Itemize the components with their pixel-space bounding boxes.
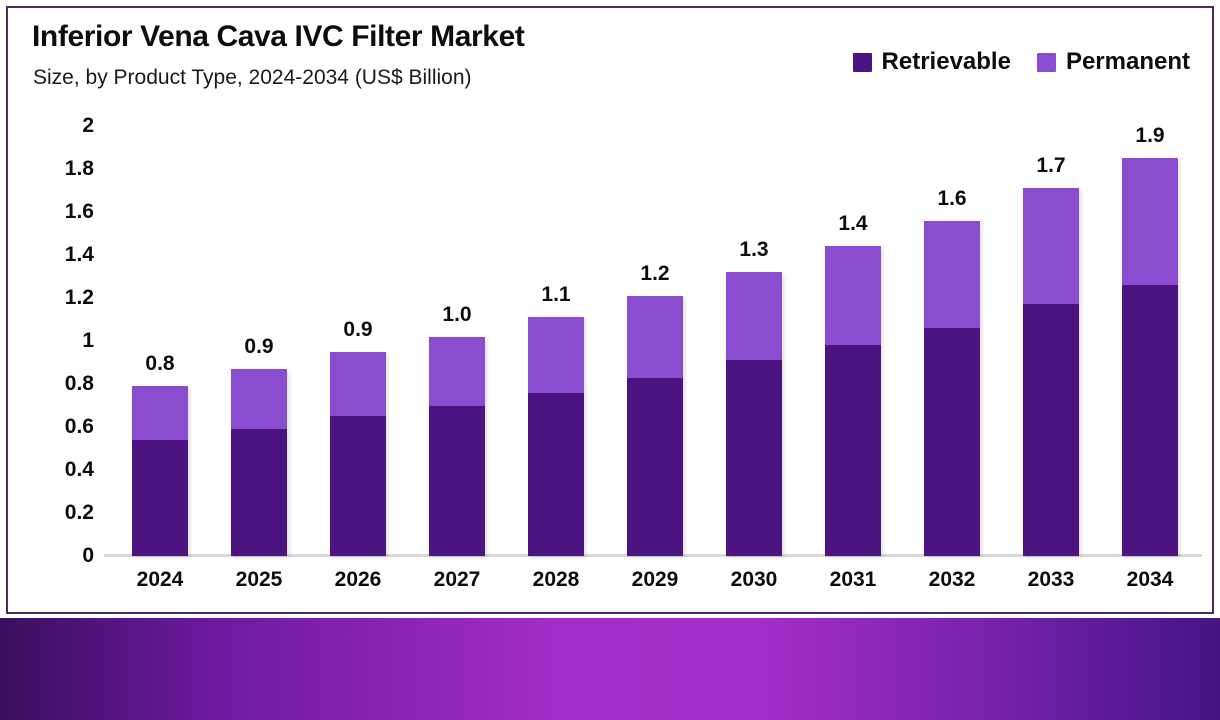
bar-stack[interactable] [1023, 188, 1079, 556]
bar-segment-permanent[interactable] [231, 369, 287, 429]
bar-segment-retrievable[interactable] [627, 378, 683, 556]
market-infographic: Inferior Vena Cava IVC Filter Market Siz… [0, 0, 1220, 720]
bar-segment-retrievable[interactable] [528, 393, 584, 556]
bar-value-label: 0.9 [217, 335, 301, 359]
bar-segment-retrievable[interactable] [1023, 304, 1079, 556]
bar-stack[interactable] [330, 352, 386, 556]
bar-group[interactable]: 1.6 [924, 221, 980, 556]
bar-segment-permanent[interactable] [627, 296, 683, 378]
bar-value-label: 1.3 [712, 238, 796, 262]
y-axis-tick-label: 2 [28, 114, 94, 138]
bar-series-container: 0.80.90.91.01.11.21.31.41.61.71.9 [104, 126, 1202, 556]
x-axis-tick-label: 2034 [1108, 568, 1192, 592]
x-axis-tick-label: 2028 [514, 568, 598, 592]
bar-segment-permanent[interactable] [1023, 188, 1079, 304]
bar-group[interactable]: 1.0 [429, 337, 485, 556]
bar-segment-retrievable[interactable] [330, 416, 386, 556]
bar-group[interactable]: 1.3 [726, 272, 782, 556]
bar-segment-permanent[interactable] [825, 246, 881, 345]
bar-segment-permanent[interactable] [726, 272, 782, 360]
bar-group[interactable]: 1.4 [825, 246, 881, 556]
y-axis-tick-label: 1.4 [28, 243, 94, 267]
bar-segment-permanent[interactable] [132, 386, 188, 440]
bar-stack[interactable] [132, 386, 188, 556]
bar-value-label: 1.4 [811, 212, 895, 236]
bar-segment-retrievable[interactable] [132, 440, 188, 556]
footer-summary-bar: The Market will Grow at the CAGR of 8.8%… [0, 618, 1220, 720]
bar-stack[interactable] [825, 246, 881, 556]
bar-stack[interactable] [726, 272, 782, 556]
bar-value-label: 0.9 [316, 318, 400, 342]
bar-segment-retrievable[interactable] [924, 328, 980, 556]
bar-stack[interactable] [231, 369, 287, 556]
bar-segment-retrievable[interactable] [825, 345, 881, 556]
x-axis-tick-label: 2027 [415, 568, 499, 592]
bar-stack[interactable] [528, 317, 584, 556]
bar-value-label: 0.8 [118, 352, 202, 376]
x-axis-tick-label: 2029 [613, 568, 697, 592]
y-axis-tick-label: 0 [28, 544, 94, 568]
x-axis: 2024202520262027202820292030203120322033… [104, 568, 1202, 604]
bar-value-label: 1.6 [910, 187, 994, 211]
bar-group[interactable]: 0.9 [231, 369, 287, 556]
y-axis-tick-label: 0.6 [28, 415, 94, 439]
y-axis: 00.20.40.60.811.21.41.61.82 [28, 126, 94, 556]
bar-group[interactable]: 1.7 [1023, 188, 1079, 556]
bar-segment-permanent[interactable] [1122, 158, 1178, 285]
y-axis-tick-label: 0.2 [28, 501, 94, 525]
bar-value-label: 1.7 [1009, 154, 1093, 178]
y-axis-tick-label: 1.6 [28, 200, 94, 224]
bar-value-label: 1.1 [514, 283, 598, 307]
bar-segment-retrievable[interactable] [231, 429, 287, 556]
bar-segment-retrievable[interactable] [726, 360, 782, 556]
bar-segment-retrievable[interactable] [1122, 285, 1178, 556]
bar-stack[interactable] [924, 221, 980, 556]
bar-segment-permanent[interactable] [924, 221, 980, 329]
bar-stack[interactable] [627, 296, 683, 556]
y-axis-tick-label: 1 [28, 329, 94, 353]
plot-area: 00.20.40.60.811.21.41.61.82 0.80.90.91.0… [8, 8, 1216, 612]
x-axis-tick-label: 2026 [316, 568, 400, 592]
bar-segment-permanent[interactable] [330, 352, 386, 417]
x-axis-tick-label: 2025 [217, 568, 301, 592]
y-axis-tick-label: 1.2 [28, 286, 94, 310]
bar-segment-permanent[interactable] [528, 317, 584, 392]
x-axis-tick-label: 2032 [910, 568, 994, 592]
bar-stack[interactable] [1122, 158, 1178, 556]
chart-card: Inferior Vena Cava IVC Filter Market Siz… [6, 6, 1214, 614]
bar-group[interactable]: 1.1 [528, 317, 584, 556]
bar-group[interactable]: 1.9 [1122, 158, 1178, 556]
x-axis-tick-label: 2024 [118, 568, 202, 592]
x-axis-tick-label: 2033 [1009, 568, 1093, 592]
x-axis-tick-label: 2031 [811, 568, 895, 592]
x-axis-tick-label: 2030 [712, 568, 796, 592]
bar-group[interactable]: 0.8 [132, 386, 188, 556]
bar-value-label: 1.9 [1108, 124, 1192, 148]
bar-group[interactable]: 0.9 [330, 352, 386, 556]
y-axis-tick-label: 0.4 [28, 458, 94, 482]
bar-segment-permanent[interactable] [429, 337, 485, 406]
y-axis-tick-label: 0.8 [28, 372, 94, 396]
bar-segment-retrievable[interactable] [429, 406, 485, 557]
bar-group[interactable]: 1.2 [627, 296, 683, 556]
bar-value-label: 1.0 [415, 303, 499, 327]
y-axis-tick-label: 1.8 [28, 157, 94, 181]
bar-stack[interactable] [429, 337, 485, 556]
bar-value-label: 1.2 [613, 262, 697, 286]
